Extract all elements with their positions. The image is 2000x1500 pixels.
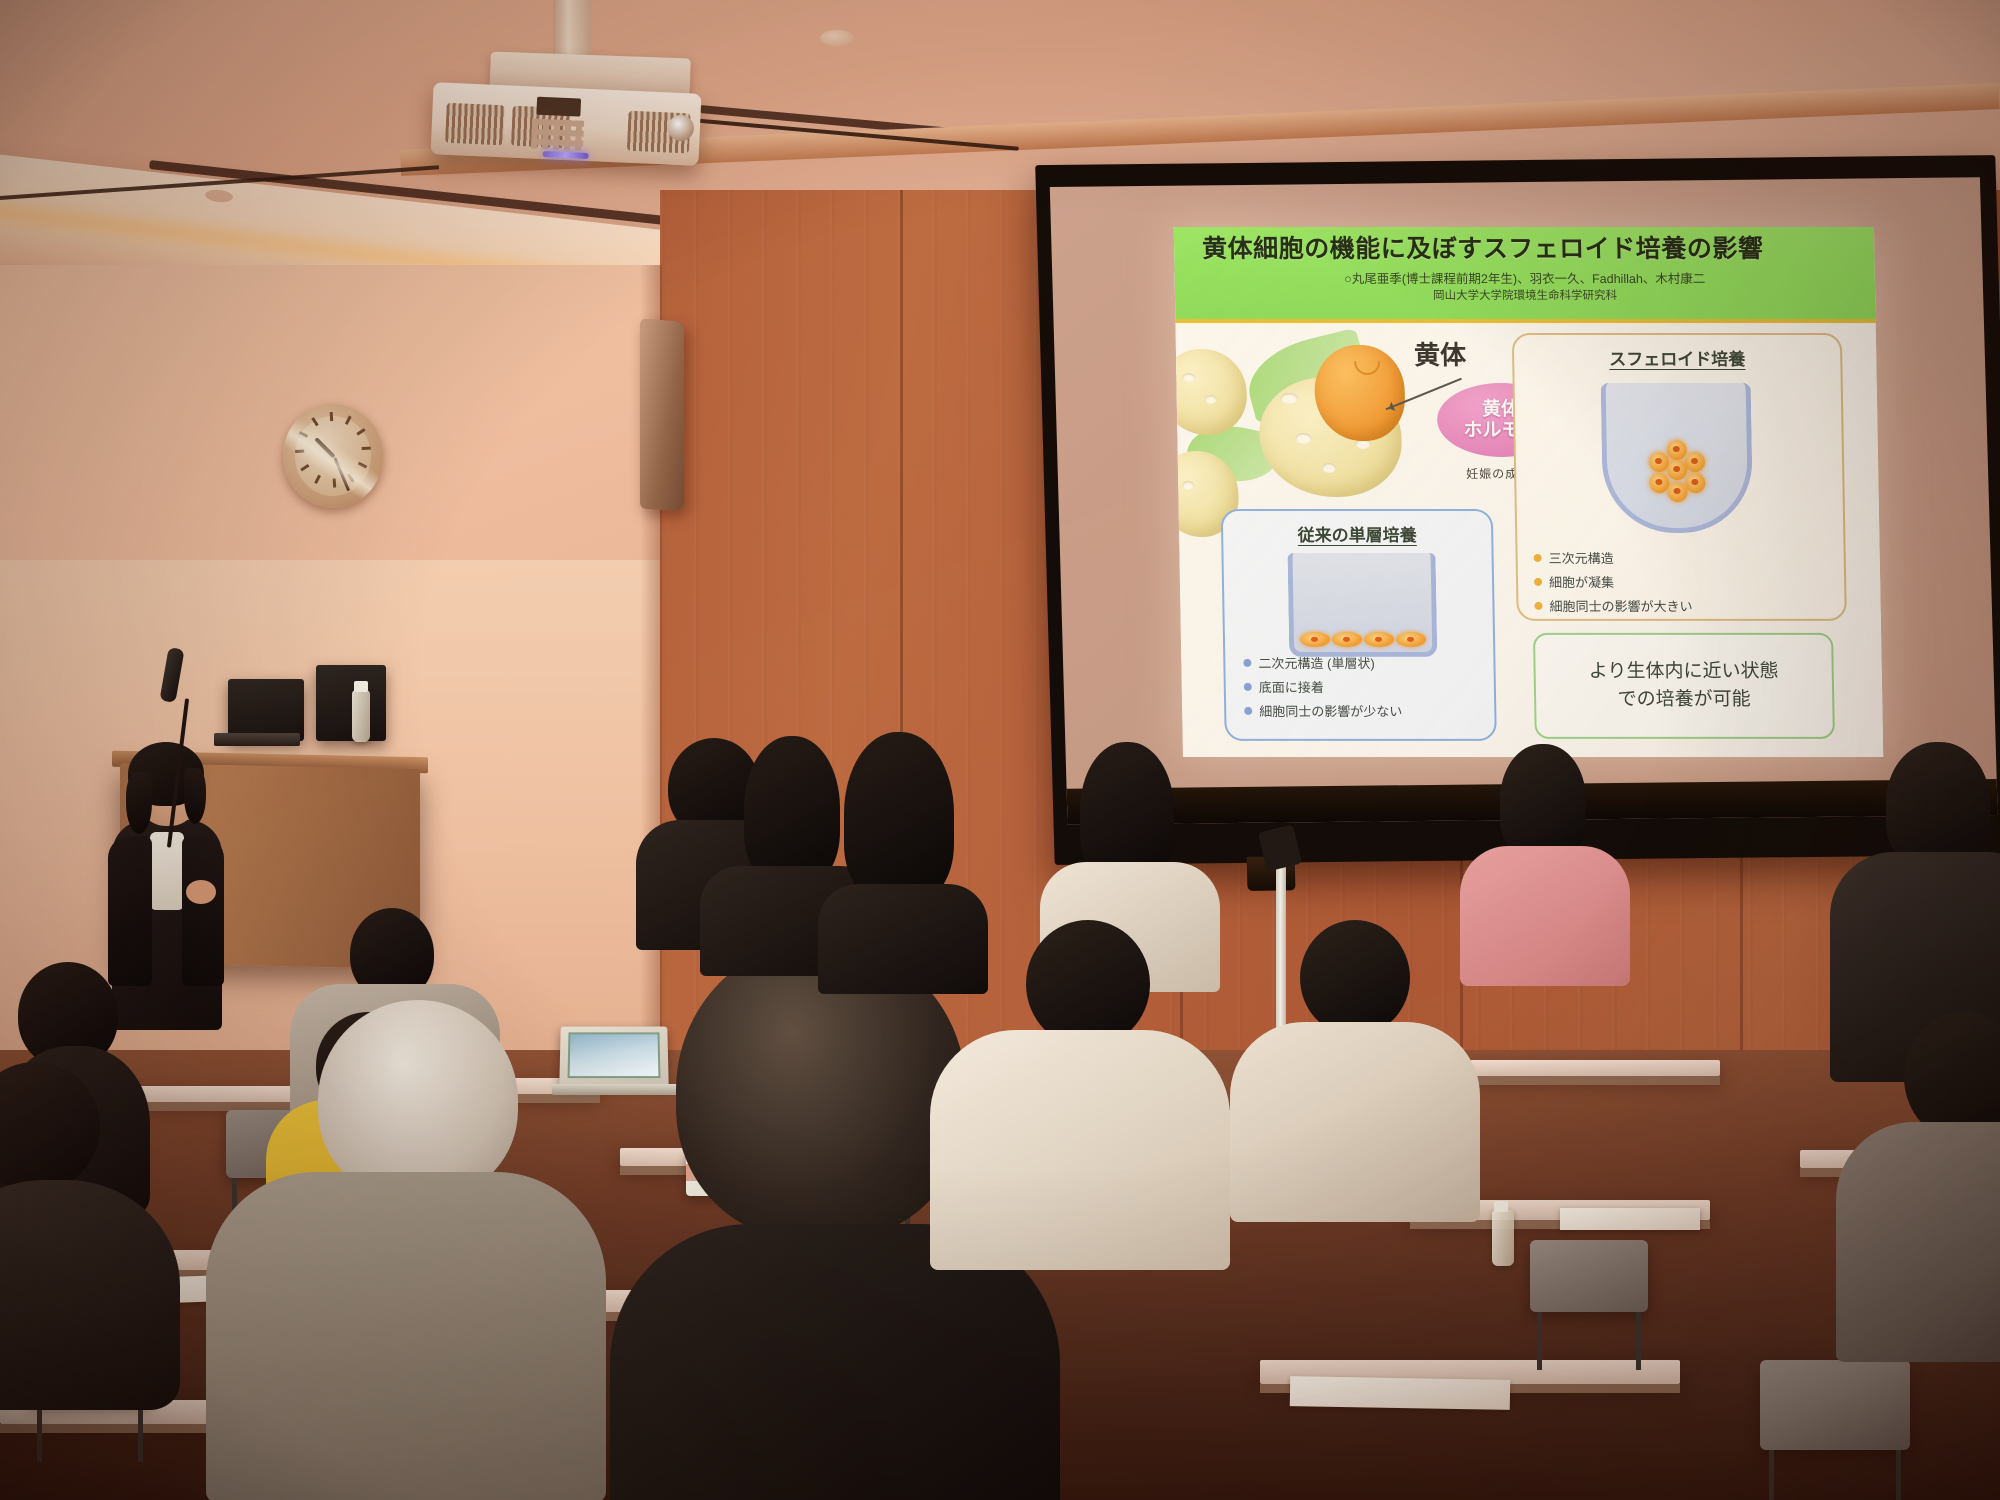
list-item-label: 三次元構造 — [1548, 548, 1613, 567]
cell-icon — [1364, 632, 1394, 647]
bullet-dot-icon — [1243, 658, 1251, 666]
conclusion-box: より生体内に近い状態 での培養が可能 — [1533, 633, 1835, 739]
handout-paper — [1560, 1208, 1700, 1230]
list-item: 底面に接着 — [1244, 677, 1484, 696]
panel-monolayer-title: 従来の単層培養 — [1223, 521, 1492, 546]
corpus-luteum-dimple-icon — [1354, 361, 1380, 375]
panel-spheroid-bullets: 三次元構造 細胞が凝集 細胞同士の影響が大きい — [1533, 543, 1834, 620]
handout-paper — [1290, 1376, 1510, 1410]
projector-display-panel — [536, 97, 581, 117]
list-item-label: 底面に接着 — [1259, 677, 1324, 696]
chair[interactable] — [1530, 1240, 1648, 1312]
projector-status-led-icon — [543, 151, 589, 159]
slide-authors: ○丸尾亜季(博士課程前期2年生)、羽衣一久、Fadhillah、木村康二 — [1175, 271, 1876, 288]
projector-mount-pole — [553, 0, 591, 62]
slide-affiliation: 岡山大学大学院環境生命科学研究科 — [1175, 287, 1876, 303]
cell-icon — [1396, 632, 1426, 647]
bullet-dot-icon — [1534, 553, 1542, 561]
laptop-lid — [559, 1027, 668, 1087]
slide-title: 黄体細胞の機能に及ぼすスフェロイド培養の影響 — [1202, 235, 1863, 264]
bullet-dot-icon — [1534, 577, 1542, 585]
bullet-dot-icon — [1244, 706, 1252, 714]
panel-monolayer-culture: 従来の単層培養 二次元構造 ( — [1221, 509, 1497, 741]
list-item: 細胞同士の影響が少ない — [1244, 701, 1484, 720]
list-item-label: 二次元構造 (単層状) — [1258, 653, 1375, 672]
chair[interactable] — [1760, 1360, 1910, 1450]
podium-keyboard[interactable] — [214, 733, 300, 746]
projected-slide: 黄体細胞の機能に及ぼすスフェロイド培養の影響 ○丸尾亜季(博士課程前期2年生)、… — [1174, 227, 1883, 757]
ovary-shape-icon — [1174, 349, 1248, 435]
ceiling-projector — [431, 82, 702, 166]
lecture-room-photo: 黄体細胞の機能に及ぼすスフェロイド培養の影響 ○丸尾亜季(博士課程前期2年生)、… — [0, 0, 2000, 1500]
monolayer-cell-row — [1300, 631, 1426, 648]
conclusion-line1: より生体内に近い状態 — [1589, 658, 1779, 686]
podium-monitor — [228, 679, 304, 741]
bullet-dot-icon — [1534, 601, 1542, 609]
culture-dish-monolayer-icon — [1287, 553, 1437, 657]
list-item-label: 細胞同士の影響が大きい — [1549, 596, 1692, 615]
list-item-label: 細胞同士の影響が少ない — [1259, 701, 1402, 720]
projector-keypad[interactable] — [531, 119, 584, 151]
panel-spheroid-title: スフェロイド培養 — [1514, 345, 1841, 370]
corpus-luteum-label: 黄体 — [1414, 335, 1467, 372]
wall-mounted-speaker-icon — [640, 318, 684, 511]
list-item: 三次元構造 — [1533, 548, 1833, 567]
list-item-label: 細胞が凝集 — [1549, 572, 1614, 591]
smoke-detector-icon — [820, 30, 854, 46]
screen-surface: 黄体細胞の機能に及ぼすスフェロイド培養の影響 ○丸尾亜季(博士課程前期2年生)、… — [1050, 177, 1998, 824]
panel-monolayer-bullets: 二次元構造 (単層状) 底面に接着 細胞同士の影響が少ない — [1243, 648, 1484, 725]
laptop-base — [552, 1084, 678, 1095]
bullet-dot-icon — [1244, 682, 1252, 690]
water-bottle-icon — [1492, 1210, 1514, 1266]
corpus-luteum-illustration: 黄体 黄体 ホルモン 妊娠の成立・維持 — [1186, 331, 1519, 521]
podium-monitor-secondary — [316, 665, 386, 741]
laptop-screen — [568, 1032, 661, 1078]
water-bottle-icon — [352, 690, 370, 742]
culture-dish-spheroid-icon — [1601, 383, 1754, 533]
slide-header: 黄体細胞の機能に及ぼすスフェロイド培養の影響 ○丸尾亜季(博士課程前期2年生)、… — [1174, 227, 1876, 323]
panel-spheroid-culture: スフェロイド培養 — [1512, 333, 1847, 621]
conclusion-line2: での培養が可能 — [1617, 686, 1751, 714]
open-laptop[interactable] — [560, 1026, 668, 1096]
slide-body: 黄体 黄体 ホルモン 妊娠の成立・維持 従来の単層培養 — [1175, 323, 1883, 757]
desk — [1470, 1060, 1720, 1076]
cell-icon — [1332, 632, 1362, 647]
list-item: 二次元構造 (単層状) — [1243, 653, 1483, 672]
cell-icon — [1300, 632, 1330, 647]
list-item: 細胞が凝集 — [1534, 572, 1834, 591]
projector-lens-icon — [667, 114, 694, 141]
spheroid-cluster-icon — [1647, 440, 1708, 500]
list-item: 細胞同士の影響が大きい — [1534, 596, 1834, 615]
projector-vent-icon — [445, 103, 505, 145]
